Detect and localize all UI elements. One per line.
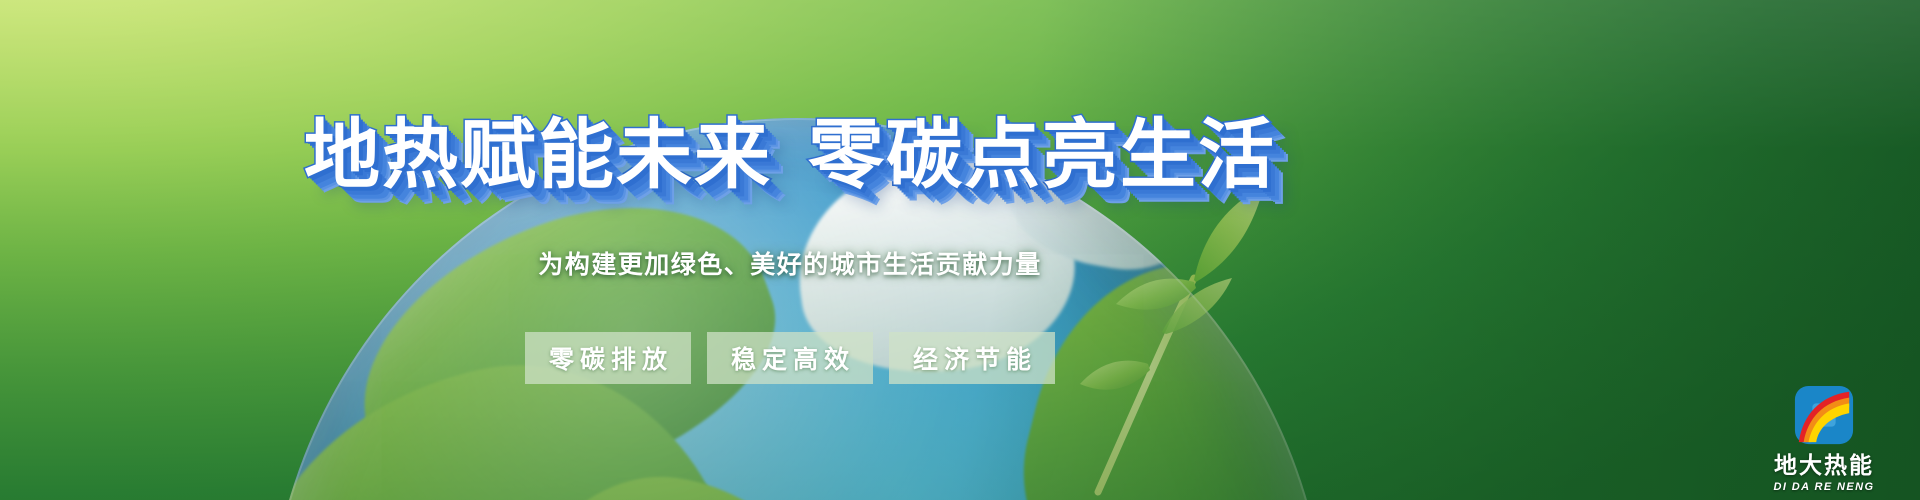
- banner-subtitle: 为构建更加绿色、美好的城市生活贡献力量: [0, 248, 1580, 282]
- banner-main-title: 地热赋能未来零碳点亮生活: [0, 108, 1580, 204]
- feature-badge-zero-carbon[interactable]: 零碳排放: [525, 332, 691, 384]
- rainbow-arc-square-logo-icon: [1793, 384, 1855, 446]
- company-logo[interactable]: 地大热能 DI DA RE NENG: [1756, 384, 1892, 494]
- logo-name-pinyin: DI DA RE NENG: [1756, 480, 1892, 494]
- feature-badge-economical[interactable]: 经济节能: [889, 332, 1055, 384]
- logo-name-cn: 地大热能: [1756, 452, 1892, 478]
- feature-badge-list: 零碳排放 稳定高效 经济节能: [0, 332, 1580, 384]
- main-title-part-1: 地热赋能未来: [304, 113, 772, 198]
- promo-banner: 地热赋能未来零碳点亮生活 为构建更加绿色、美好的城市生活贡献力量 零碳排放 稳定…: [0, 0, 1920, 500]
- feature-badge-stable-efficient[interactable]: 稳定高效: [707, 332, 873, 384]
- banner-content: 地热赋能未来零碳点亮生活 为构建更加绿色、美好的城市生活贡献力量 零碳排放 稳定…: [0, 0, 1920, 500]
- main-title-part-2: 零碳点亮生活: [808, 113, 1276, 198]
